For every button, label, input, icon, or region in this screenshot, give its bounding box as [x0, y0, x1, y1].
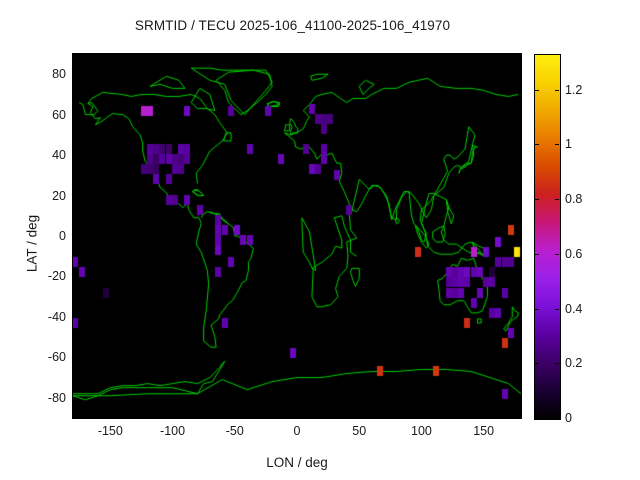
- colorbar-tick-label: 0.4: [565, 302, 582, 316]
- colorbar-tick-label: 0.2: [565, 356, 582, 370]
- y-axis-title: LAT / deg: [25, 184, 40, 304]
- x-axis-title: LON / deg: [73, 455, 521, 470]
- colorbar[interactable]: [534, 54, 561, 420]
- colorbar-tick: [535, 199, 539, 200]
- x-tick-label: 150: [473, 424, 494, 438]
- colorbar-tick: [535, 363, 539, 364]
- x-tick-label: 50: [352, 424, 366, 438]
- colorbar-tick: [555, 254, 559, 255]
- y-tick-label: 60: [30, 108, 66, 122]
- axis-top-spine: [73, 53, 522, 54]
- colorbar-tick: [535, 254, 539, 255]
- colorbar-tick-label: 0.6: [565, 247, 582, 261]
- x-tick: [421, 413, 422, 418]
- axis-bottom-spine: [73, 418, 522, 419]
- chart-title: SRMTID / TECU 2025-106_41100-2025-106_41…: [0, 18, 585, 33]
- colorbar-tick-label: 1.2: [565, 83, 582, 97]
- y-tick: [73, 317, 78, 318]
- x-tick: [297, 413, 298, 418]
- y-tick: [73, 276, 78, 277]
- y-tick: [73, 115, 78, 116]
- colorbar-tick: [555, 199, 559, 200]
- colorbar-tick: [555, 363, 559, 364]
- y-tick: [73, 357, 78, 358]
- map-plot-area[interactable]: [73, 54, 521, 418]
- colorbar-tick: [535, 418, 539, 419]
- y-tick: [73, 155, 78, 156]
- x-tick: [359, 413, 360, 418]
- y-tick: [73, 74, 78, 75]
- y-tick: [73, 236, 78, 237]
- x-tick: [235, 413, 236, 418]
- y-tick-label: 80: [30, 67, 66, 81]
- colorbar-tick: [555, 90, 559, 91]
- colorbar-tick-label: 0: [565, 411, 572, 425]
- colorbar-gradient: [535, 55, 560, 419]
- figure-root: SRMTID / TECU 2025-106_41100-2025-106_41…: [0, 0, 640, 480]
- colorbar-tick-label: 1: [565, 137, 572, 151]
- y-tick-label: -40: [30, 310, 66, 324]
- colorbar-tick-label: 0.8: [565, 192, 582, 206]
- colorbar-tick: [535, 144, 539, 145]
- y-tick-label: 40: [30, 148, 66, 162]
- map-heatmap-canvas[interactable]: [73, 54, 521, 418]
- x-tick-label: -50: [226, 424, 244, 438]
- y-tick-label: -80: [30, 391, 66, 405]
- x-tick: [110, 413, 111, 418]
- colorbar-tick: [535, 90, 539, 91]
- x-tick-label: 100: [411, 424, 432, 438]
- y-tick: [73, 196, 78, 197]
- x-tick-label: -100: [160, 424, 185, 438]
- y-tick-label: -60: [30, 350, 66, 364]
- x-tick: [173, 413, 174, 418]
- colorbar-tick: [555, 144, 559, 145]
- colorbar-tick: [555, 418, 559, 419]
- colorbar-tick: [535, 309, 539, 310]
- y-tick: [73, 398, 78, 399]
- x-tick-label: 0: [294, 424, 301, 438]
- colorbar-tick: [555, 309, 559, 310]
- x-tick-label: -150: [98, 424, 123, 438]
- x-tick: [484, 413, 485, 418]
- axis-right-spine: [521, 53, 522, 419]
